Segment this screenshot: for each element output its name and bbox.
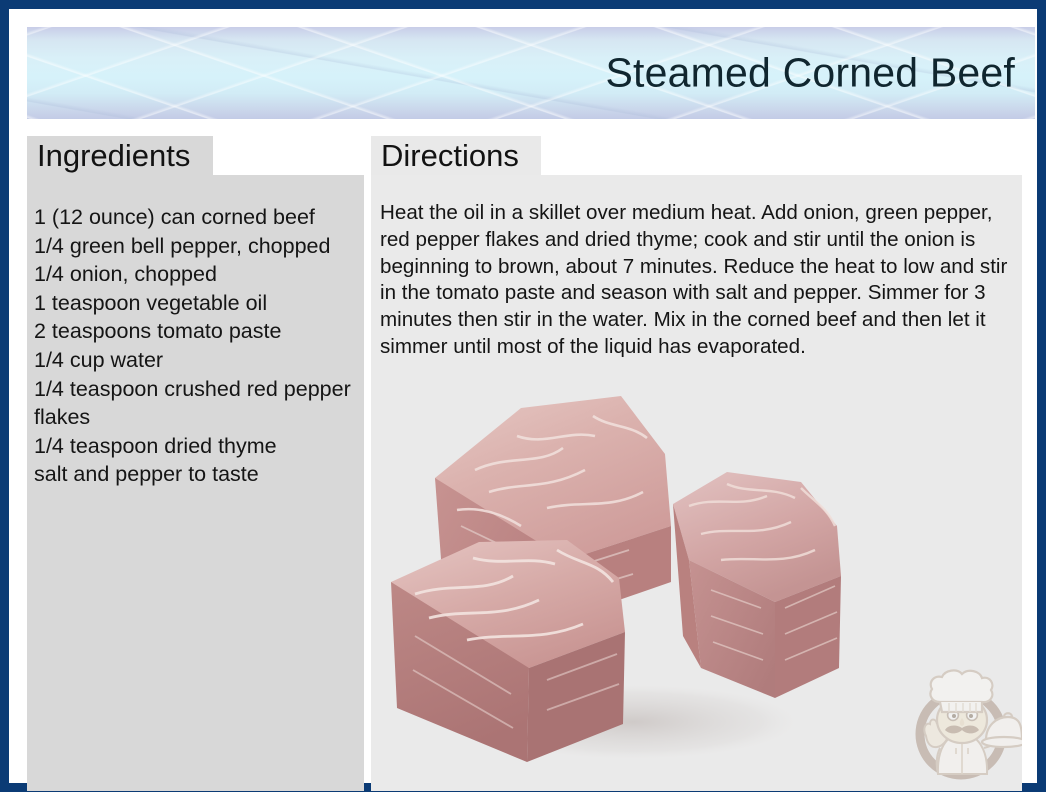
directions-panel: Heat the oil in a skillet over medium he… [371, 175, 1022, 791]
slide-page: Steamed Corned Beef Ingredients Directio… [9, 9, 1037, 783]
ingredients-list: 1 (12 ounce) can corned beef 1/4 green b… [34, 203, 352, 489]
list-item: 1/4 cup water [34, 346, 352, 375]
directions-body-text: Heat the oil in a skillet over medium he… [380, 200, 1014, 361]
recipe-slide: Steamed Corned Beef Ingredients Directio… [0, 0, 1046, 792]
list-item: 1 (12 ounce) can corned beef [34, 203, 352, 232]
list-item: 1/4 teaspoon crushed red pepper flakes [34, 375, 352, 432]
list-item: 1 teaspoon vegetable oil [34, 289, 352, 318]
list-item: 1/4 green bell pepper, chopped [34, 232, 352, 261]
list-item: salt and pepper to taste [34, 460, 352, 489]
ingredients-panel: 1 (12 ounce) can corned beef 1/4 green b… [27, 175, 364, 791]
list-item: 1/4 teaspoon dried thyme [34, 432, 352, 461]
section-heading-directions: Directions [371, 136, 541, 176]
section-heading-ingredients: Ingredients [27, 136, 213, 176]
beef-cubes-photo [371, 350, 901, 790]
list-item: 2 teaspoons tomato paste [34, 317, 352, 346]
page-title: Steamed Corned Beef [606, 53, 1016, 94]
header-banner: Steamed Corned Beef [27, 27, 1035, 119]
list-item: 1/4 onion, chopped [34, 260, 352, 289]
chef-mascot-logo [904, 662, 1022, 784]
